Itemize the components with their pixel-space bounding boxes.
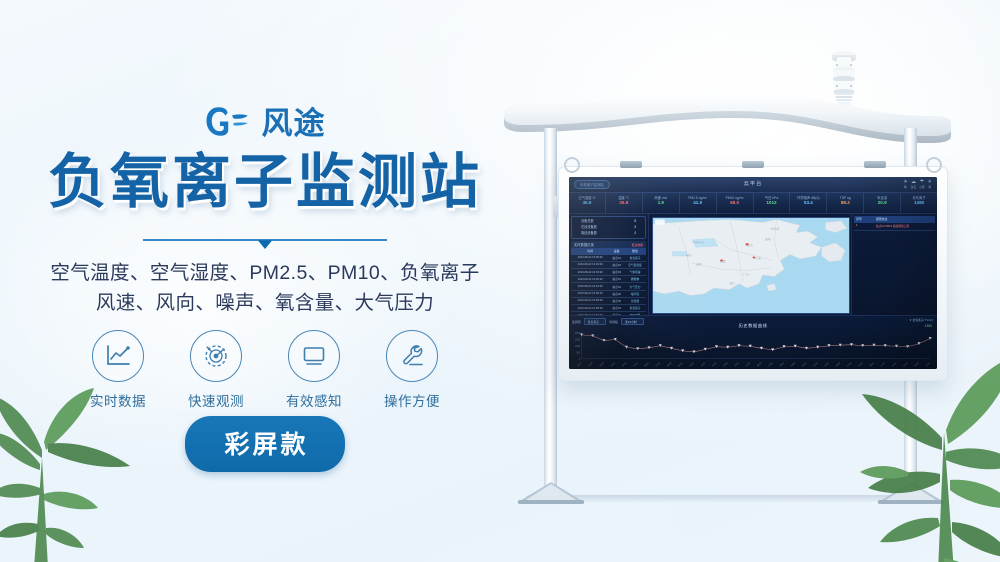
mount-clip-3 <box>864 161 886 168</box>
svg-text:18:00: 18:00 <box>779 362 785 367</box>
brand-name: 风途 <box>262 108 326 139</box>
cell-time: 2023-08-22 13:04:30 <box>571 261 609 268</box>
metric-value: 41.0 <box>680 200 716 207</box>
svg-text:0: 0 <box>579 359 581 361</box>
chart-legend: ▼ 负氧离子(个/cm³) <box>909 318 933 322</box>
count-label: 离线设备数 <box>581 231 597 237</box>
cell-time: 2023-08-22 12:58:30 <box>571 304 609 311</box>
feature-subtitle: 空气温度、空气湿度、PM2.5、PM10、负氧离子 风速、风向、噪声、氧含量、大… <box>0 258 530 318</box>
china-map[interactable]: 乌鲁木齐 喀什 拉萨 成都 北京 上海 广州 哈尔滨 沈阳 <box>652 217 850 314</box>
table-row[interactable]: 2023-08-22 13:05:30 站点01 负氧离子 <box>571 255 646 262</box>
metric-value: 1380 <box>901 200 937 207</box>
svg-text:17:00: 17:00 <box>768 362 774 367</box>
svg-text:1500: 1500 <box>575 339 581 341</box>
svg-text:10:00: 10:00 <box>689 362 695 367</box>
cell-value: 气象风速 <box>624 269 646 276</box>
metric-value: 20.9 <box>864 200 900 207</box>
rain-icon: ☂ <box>919 179 924 186</box>
svg-text:乌鲁木齐: 乌鲁木齐 <box>692 240 704 243</box>
svg-text:08:00: 08:00 <box>667 362 673 367</box>
device-count-box: 设备总数 5 在线设备数 3 离线设备数 2 <box>571 216 646 239</box>
cell-value: 噪声值 <box>624 290 646 297</box>
cell-device: 站点02 <box>609 261 624 268</box>
weather-label: 多云 <box>911 186 916 189</box>
svg-text:14:00: 14:00 <box>734 362 740 367</box>
count-row: 离线设备数 2 <box>575 231 642 237</box>
svg-text:12:00: 12:00 <box>712 362 718 367</box>
alarm-row[interactable]: 1 站点03 PM10 超出阈值上限 <box>854 223 935 231</box>
metric-value: 68.0 <box>717 200 753 207</box>
base-plate-left <box>518 482 584 504</box>
sun-icon: ☀ <box>903 179 907 186</box>
svg-text:09:00: 09:00 <box>678 362 684 367</box>
column-header: 报警信息 <box>876 217 888 221</box>
svg-text:01:00: 01:00 <box>588 362 594 367</box>
table-row[interactable]: 2023-08-22 13:00:30 站点02 噪声值 <box>571 290 646 297</box>
records-panel-title: 实时数据记录 <box>574 242 594 247</box>
metric-value: 26.8 <box>606 200 642 207</box>
svg-text:喀什: 喀什 <box>686 253 692 256</box>
table-row[interactable]: 2023-08-22 12:59:30 站点05 氧含量 <box>571 297 646 304</box>
svg-text:广州: 广州 <box>743 272 749 275</box>
cell-time: 2023-08-22 13:02:30 <box>571 276 609 283</box>
cell-value: 空气温湿度 <box>624 261 646 268</box>
wrench-tool-icon <box>386 330 438 382</box>
hanger-ring-right-icon <box>926 157 942 173</box>
dashboard-title: 云平台 <box>569 180 937 187</box>
hanger-ring-left-icon <box>564 157 580 173</box>
cloud-icon: ☁ <box>911 179 916 186</box>
cell-device: 站点03 <box>609 269 624 276</box>
svg-text:00:00: 00:00 <box>577 362 583 367</box>
svg-text:03:00: 03:00 <box>611 362 617 367</box>
feature-label: 操作方便 <box>376 390 448 410</box>
table-row[interactable]: 2023-08-22 13:04:30 站点02 空气温湿度 <box>571 261 646 268</box>
sun-icon: ☀ <box>928 179 932 186</box>
count-value: 2 <box>634 231 636 237</box>
svg-text:07:00: 07:00 <box>656 362 662 367</box>
cell-device: 站点03 <box>609 304 624 311</box>
cell-time: 2023-08-22 13:01:30 <box>571 283 609 290</box>
cell-time: 2023-08-22 12:59:30 <box>571 297 609 304</box>
dashboard-header: 负氧离子监测站 云平台 ☀ 晴 ☁ 多云 <box>569 177 937 193</box>
cell-device: 站点02 <box>609 290 624 297</box>
metric-card: TSP ug 88.2 <box>827 193 864 213</box>
alarm-index: 1 <box>856 224 876 228</box>
cell-value: 负氧离子 <box>624 304 646 311</box>
cell-device: 站点05 <box>609 297 624 304</box>
weather-day: ☁ 多云 <box>911 179 916 189</box>
svg-text:11:00: 11:00 <box>701 362 707 367</box>
support-post-left <box>544 128 557 502</box>
metric-card: 环境噪声 dB(A) 53.4 <box>790 193 827 213</box>
mount-clip-1 <box>620 161 642 168</box>
table-row[interactable]: 2023-08-22 13:01:30 站点04 大气压力 <box>571 283 646 290</box>
weather-label: 小雨 <box>919 186 924 189</box>
cell-value: 负氧离子 <box>624 255 646 262</box>
svg-text:15:00: 15:00 <box>746 362 752 367</box>
cell-value: 大气压力 <box>624 283 646 290</box>
table-row[interactable]: 2023-08-22 13:03:30 站点03 气象风速 <box>571 269 646 276</box>
brand-logo: 风途 <box>0 106 530 140</box>
metric-value: 1.9 <box>643 200 679 207</box>
svg-text:06:00: 06:00 <box>644 362 650 367</box>
metric-card: PM2.5 ug/m³ 41.0 <box>680 193 717 213</box>
alarm-message: 站点03 PM10 超出阈值上限 <box>876 224 909 228</box>
svg-text:拉萨: 拉萨 <box>696 262 702 265</box>
dashboard-body: 设备总数 5 在线设备数 3 离线设备数 2 <box>569 214 937 315</box>
cell-time: 2023-08-22 13:03:30 <box>571 269 609 276</box>
promo-banner: 风途 负氧离子监测站 空气温度、空气湿度、PM2.5、PM10、负氧离子 风速、… <box>0 0 1000 562</box>
metric-card: 气压 hPa 1012 <box>754 193 791 213</box>
cell-time: 2023-08-22 13:00:30 <box>571 290 609 297</box>
feature-label: 有效感知 <box>278 390 350 410</box>
metric-value: 1012 <box>754 200 790 207</box>
feature-item-effective-sensing[interactable]: 有效感知 <box>278 330 350 410</box>
banana-leaf-plant-right-icon <box>788 322 1000 562</box>
weather-forecast-strip: ☀ 晴 ☁ 多云 ☂ 小雨 <box>903 179 932 189</box>
color-screen-model-button[interactable]: 彩屏款 <box>185 416 344 472</box>
svg-text:1000: 1000 <box>575 346 581 348</box>
metric-value: 45.6 <box>569 200 605 207</box>
table-row[interactable]: 2023-08-22 13:02:30 站点01 颗粒物 <box>571 276 646 283</box>
subtitle-line-2: 风速、风向、噪声、氧含量、大气压力 <box>0 288 530 318</box>
svg-text:05:00: 05:00 <box>633 362 639 367</box>
column-header: 序号 <box>856 217 876 221</box>
svg-text:02:00: 02:00 <box>599 362 605 367</box>
mount-clip-2 <box>742 161 764 168</box>
alarm-header-row: 序号 报警信息 <box>854 216 935 223</box>
weather-day: ☂ 小雨 <box>919 179 924 189</box>
metric-card: 风速 m/s 1.9 <box>643 193 680 213</box>
svg-text:04:00: 04:00 <box>622 362 628 367</box>
metric-card: 氧含量 20.9 <box>864 193 901 213</box>
metric-value: 88.2 <box>827 200 863 207</box>
table-row[interactable]: 2023-08-22 12:58:30 站点03 负氧离子 <box>571 304 646 311</box>
map-panel[interactable]: 乌鲁木齐 喀什 拉萨 成都 北京 上海 广州 哈尔滨 沈阳 <box>649 214 851 315</box>
cell-value: 氧含量 <box>624 297 646 304</box>
svg-text:500: 500 <box>576 352 581 354</box>
records-more-link[interactable]: 更多数据 <box>631 243 643 247</box>
svg-text:上海: 上海 <box>755 256 761 259</box>
page-title: 负氧离子监测站 <box>0 152 530 214</box>
metric-card: 空气湿度 % 45.6 <box>569 193 606 213</box>
svg-text:2000: 2000 <box>575 333 581 335</box>
svg-text:16:00: 16:00 <box>757 362 763 367</box>
metric-value: 53.4 <box>790 200 826 207</box>
monitor-display-icon <box>288 330 340 382</box>
weather-day: ☀ 晴 <box>903 179 907 189</box>
cell-time: 2023-08-22 13:05:30 <box>571 255 609 262</box>
metric-strip: 空气湿度 % 45.6 温度 ℃ 26.8 风速 m/s 1.9 PM2.5 <box>569 193 937 214</box>
svg-text:海口: 海口 <box>729 281 735 284</box>
alarm-panel: 序号 报警信息 1 站点03 PM10 超出阈值上限 <box>851 214 937 315</box>
svg-text:13:00: 13:00 <box>723 362 729 367</box>
cell-device: 站点01 <box>609 255 624 262</box>
subtitle-line-1: 空气温度、空气湿度、PM2.5、PM10、负氧离子 <box>0 258 530 288</box>
weather-day: ☀ 晴 <box>928 179 932 189</box>
divider-with-triangle-icon <box>0 236 530 250</box>
svg-text:沈阳: 沈阳 <box>765 237 771 240</box>
feature-item-easy-operation[interactable]: 操作方便 <box>376 330 448 410</box>
weather-label: 晴 <box>904 186 907 189</box>
svg-text:哈尔滨: 哈尔滨 <box>771 227 780 230</box>
banana-leaf-plant-left-icon <box>0 338 200 562</box>
metric-card: PM10 ug/m³ 68.0 <box>717 193 754 213</box>
fengtu-g-logo-icon <box>205 106 253 140</box>
cell-device: 站点04 <box>609 283 624 290</box>
wave-canopy <box>500 86 955 158</box>
cell-value: 颗粒物 <box>624 276 646 283</box>
metric-card: 温度 ℃ 26.8 <box>606 193 643 213</box>
weather-label: 晴 <box>928 186 931 189</box>
records-panel-header: 实时数据记录 更多数据 <box>571 241 646 248</box>
cell-device: 站点01 <box>609 276 624 283</box>
metric-card: 负氧离子 1380 <box>901 193 937 213</box>
device-records-panel: 设备总数 5 在线设备数 3 离线设备数 2 <box>569 214 649 315</box>
